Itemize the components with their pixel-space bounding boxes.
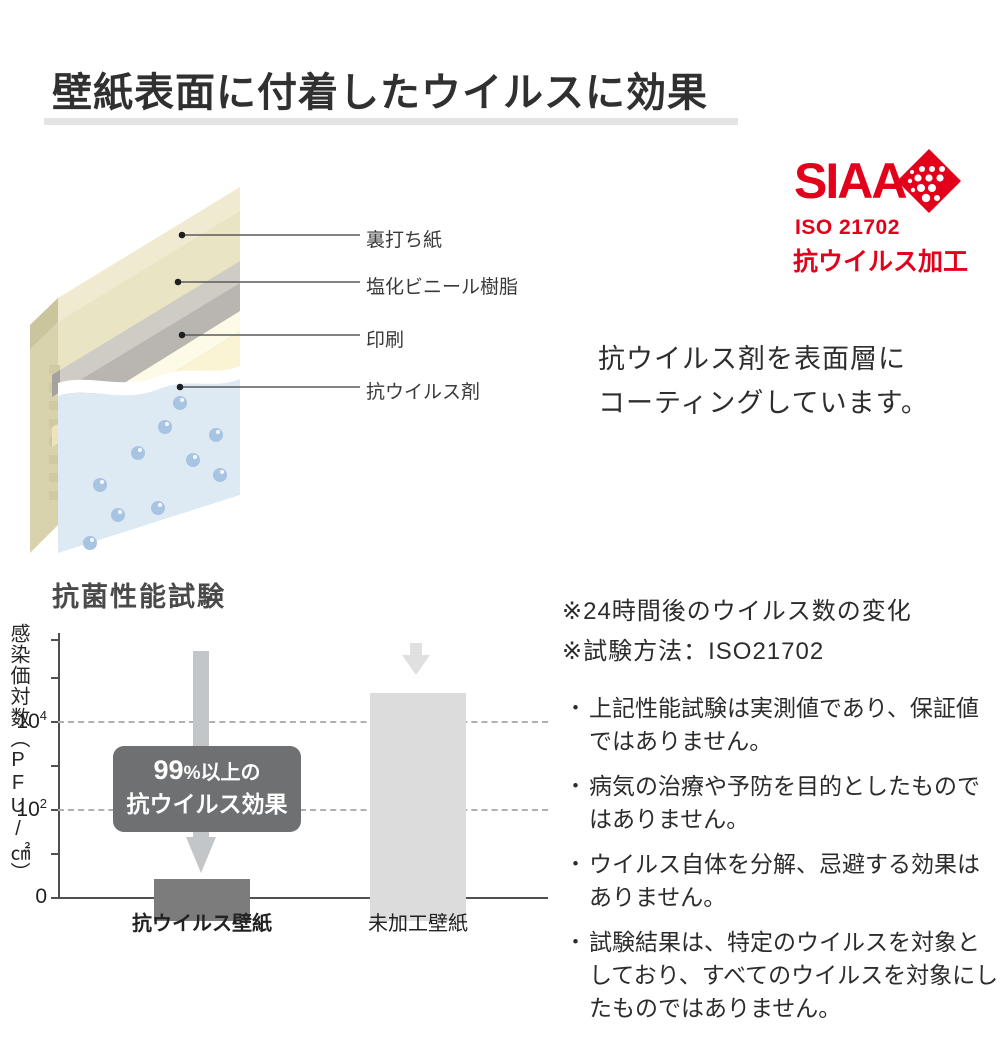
list-item: ・ ウイルス自体を分解、忌避する効果はありません。: [562, 848, 1000, 914]
y-tick-label-0: 0: [35, 885, 47, 909]
y-tick-minor-6: [51, 639, 60, 641]
siaa-diamond-icon: [896, 148, 962, 214]
page-title: 壁紙表面に付着したウイルスに効果: [52, 60, 708, 118]
chart-title: 抗菌性能試験: [52, 575, 226, 614]
y-tick-minor-3: [51, 765, 60, 767]
title-divider: [44, 118, 738, 125]
bar-untreated-wallpaper: [370, 693, 466, 921]
siaa-jp-label: 抗ウイルス加工: [793, 242, 968, 278]
notes-section: ※24時間後のウイルス数の変化 ※試験方法：ISO21702 ・ 上記性能試験は…: [562, 592, 1000, 1037]
x-axis-line: [58, 897, 548, 899]
page-header: 壁紙表面に付着したウイルスに効果: [0, 0, 1000, 135]
y-tick-label-10e4: 104: [16, 708, 47, 734]
badge-line-1: 99%以上の: [113, 755, 301, 789]
note-star-1: ※24時間後のウイルス数の変化: [562, 592, 1000, 632]
list-item-text: 上記性能試験は実測値であり、保証値ではありません。: [589, 692, 1000, 758]
inoculation-down-arrow-icon: [402, 643, 430, 675]
antibacterial-performance-chart: 抗菌性能試験 感染価対数（PFU/㎠） 0 102 104 99: [0, 575, 560, 965]
list-item: ・ 上記性能試験は実測値であり、保証値ではありません。: [562, 692, 1000, 758]
y-tick-0: [51, 897, 60, 899]
x-tick-label-untreated-wallpaper: 未加工壁紙: [368, 907, 468, 936]
list-item-text: ウイルス自体を分解、忌避する効果はありません。: [589, 848, 1000, 914]
diagram-label-backing-paper: 裏打ち紙: [366, 225, 442, 252]
badge-percent-sign: %: [184, 763, 201, 784]
siaa-iso-number: ISO 21702: [795, 216, 900, 240]
diagram-label-printing: 印刷: [366, 325, 404, 352]
siaa-certification-mark: SIAA: [792, 152, 974, 277]
list-item: ・ 試験結果は、特定のウイルスを対象としており、すべてのウイルスを対象にしたもの…: [562, 926, 1000, 1025]
badge-suffix: 以上の: [200, 762, 260, 784]
chart-plot-area: 0 102 104 99%以上の 抗ウイルス効果 抗ウイルス壁紙 未加工壁紙: [58, 633, 548, 923]
arrow-head: [186, 837, 216, 873]
disclaimer-list: ・ 上記性能試験は実測値であり、保証値ではありません。 ・ 病気の治療や予防を目…: [562, 692, 1000, 1025]
wallpaper-cross-section-diagram: 裏打ち紙 塩化ビニール樹脂 印刷 抗ウイルス剤: [30, 165, 550, 565]
diagram-label-antiviral-agent: 抗ウイルス剤: [366, 377, 480, 404]
siaa-wordmark: SIAA: [794, 154, 905, 208]
note-star-2: ※試験方法：ISO21702: [562, 632, 1000, 672]
arrow-head: [402, 655, 430, 675]
badge-line-2: 抗ウイルス効果: [113, 789, 301, 820]
layer-antiviral-coating: [58, 366, 240, 553]
list-item: ・ 病気の治療や予防を目的としたものではありません。: [562, 770, 1000, 836]
siaa-logo-row: SIAA: [792, 152, 974, 214]
bullet-marker-icon: ・: [562, 692, 589, 758]
bullet-marker-icon: ・: [562, 926, 589, 1025]
diagram-label-vinyl-resin: 塩化ビニール樹脂: [366, 272, 518, 299]
bullet-marker-icon: ・: [562, 770, 589, 836]
y-tick-minor-1: [51, 853, 60, 855]
list-item-text: 試験結果は、特定のウイルスを対象としており、すべてのウイルスを対象にしたものでは…: [589, 926, 1000, 1025]
y-tick-minor-5: [51, 677, 60, 679]
bullet-marker-icon: ・: [562, 848, 589, 914]
badge-number: 99: [154, 755, 184, 785]
y-tick-label-10e2: 102: [16, 796, 47, 822]
chart-y-axis-label: 感染価対数（PFU/㎠）: [0, 623, 35, 883]
list-item-text: 病気の治療や予防を目的としたものではありません。: [589, 770, 1000, 836]
coating-description: 抗ウイルス剤を表面層に コーティングしています。: [598, 337, 988, 425]
x-tick-label-antiviral-wallpaper: 抗ウイルス壁紙: [132, 907, 272, 936]
status-badge: 99%以上の 抗ウイルス効果: [113, 746, 301, 832]
gridline-10e4: [58, 721, 548, 723]
arrow-shaft: [410, 643, 422, 657]
